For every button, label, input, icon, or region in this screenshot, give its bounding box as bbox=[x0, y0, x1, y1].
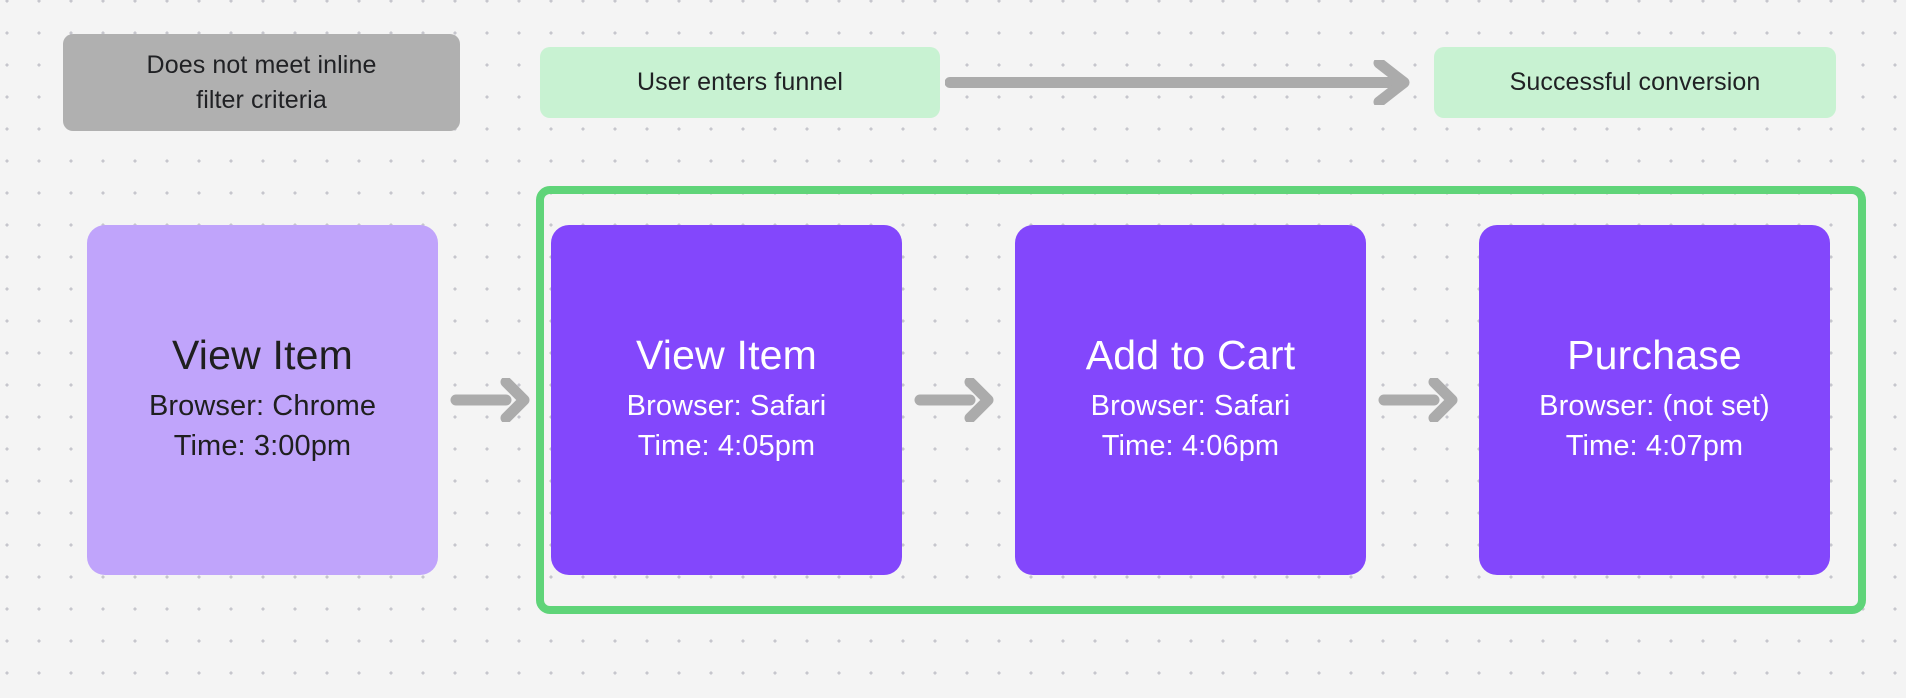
event-name: View Item bbox=[172, 333, 353, 379]
event-card-2[interactable]: Add to Cart Browser: Safari Time: 4:06pm bbox=[1015, 225, 1366, 575]
event-browser: Browser: (not set) bbox=[1539, 387, 1770, 427]
legend-user-enters-funnel: User enters funnel bbox=[540, 47, 940, 118]
legend-flow-arrow-icon bbox=[945, 60, 1425, 105]
event-card-1[interactable]: View Item Browser: Safari Time: 4:05pm bbox=[551, 225, 902, 575]
legend-excluded-line-1: Does not meet inline bbox=[147, 48, 377, 83]
arrow-right-icon bbox=[450, 378, 536, 422]
event-browser: Browser: Safari bbox=[627, 387, 827, 427]
event-name: Add to Cart bbox=[1086, 333, 1296, 379]
arrow-right-icon bbox=[945, 60, 1425, 105]
event-time: Time: 3:00pm bbox=[174, 427, 351, 467]
event-card-0[interactable]: View Item Browser: Chrome Time: 3:00pm bbox=[87, 225, 438, 575]
legend-successful-conversion: Successful conversion bbox=[1434, 47, 1836, 118]
arrow-right-icon bbox=[1378, 378, 1464, 422]
event-name: Purchase bbox=[1567, 333, 1742, 379]
step-arrow-0-icon bbox=[450, 378, 536, 422]
event-name: View Item bbox=[636, 333, 817, 379]
arrow-right-icon bbox=[914, 378, 1000, 422]
step-arrow-1-icon bbox=[914, 378, 1000, 422]
event-time: Time: 4:06pm bbox=[1102, 427, 1279, 467]
event-browser: Browser: Safari bbox=[1091, 387, 1291, 427]
event-time: Time: 4:05pm bbox=[638, 427, 815, 467]
event-time: Time: 4:07pm bbox=[1566, 427, 1743, 467]
legend-enters-label: User enters funnel bbox=[637, 65, 843, 100]
event-card-3[interactable]: Purchase Browser: (not set) Time: 4:07pm bbox=[1479, 225, 1830, 575]
event-browser: Browser: Chrome bbox=[149, 387, 376, 427]
legend-excluded-criteria: Does not meet inline filter criteria bbox=[63, 34, 460, 131]
diagram-canvas: Does not meet inline filter criteria Use… bbox=[0, 0, 1906, 698]
legend-converted-label: Successful conversion bbox=[1510, 65, 1761, 100]
legend-excluded-line-2: filter criteria bbox=[196, 83, 327, 118]
step-arrow-2-icon bbox=[1378, 378, 1464, 422]
